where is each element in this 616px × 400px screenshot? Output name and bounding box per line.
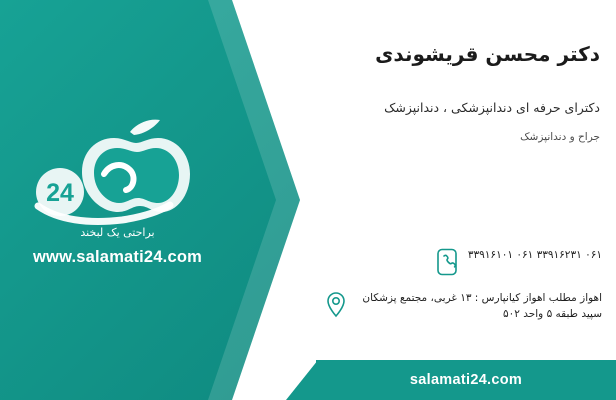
phone-icon [434,247,460,277]
address-text: اهواز مطلب اهواز کیانپارس : ۱۳ غربی، مجت… [357,290,602,323]
footer-website: salamati24.com [316,360,616,400]
location-pin-icon [323,290,349,320]
svg-text:24: 24 [46,179,74,207]
specialty-primary: دکترای حرفه ای دندانپزشکی ، دندانپزشک [384,100,600,115]
logo: 24 براحتی یک لبخند www.salamati24.com [10,108,225,268]
logo-slogan: براحتی یک لبخند [10,226,225,239]
address-row: اهواز مطلب اهواز کیانپارس : ۱۳ غربی، مجت… [323,290,602,323]
logo-website: www.salamati24.com [10,248,225,267]
card-content: دکتر محسن قریشوندی دکترای حرفه ای دندانپ… [300,0,616,400]
specialty-secondary: جراح و دندانپزشک [520,131,600,143]
phone-numbers: ۰۶۱ ۳۳۹۱۶۲۳۱ ۰۶۱ ۳۳۹۱۶۱۰۱ [468,247,602,263]
business-card: 24 براحتی یک لبخند www.salamati24.com دک… [0,0,616,400]
doctor-name: دکتر محسن قریشوندی [375,42,600,66]
phone-row: ۰۶۱ ۳۳۹۱۶۲۳۱ ۰۶۱ ۳۳۹۱۶۱۰۱ [434,247,602,277]
salamati-logo-icon: 24 [18,108,198,228]
